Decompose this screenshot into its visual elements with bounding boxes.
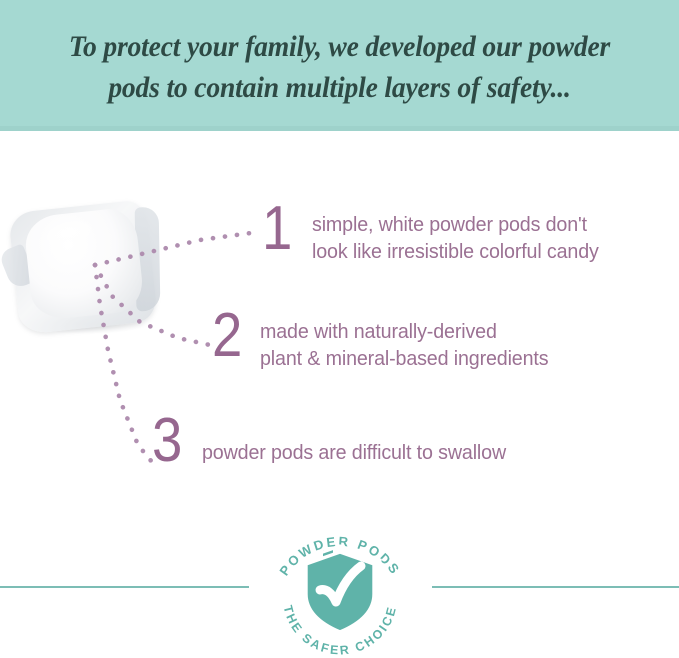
shield-checkmark-icon	[300, 546, 380, 638]
headline-text: To protect your family, we developed our…	[55, 26, 624, 109]
list-item: 2 made with naturally-derived plant & mi…	[212, 311, 561, 373]
item-text: simple, white powder pods don't look lik…	[312, 211, 599, 266]
item-number: 1	[262, 204, 292, 255]
divider-rule-left	[0, 586, 249, 588]
item-text: made with naturally-derived plant & mine…	[260, 318, 548, 373]
powder-pod-image	[8, 196, 168, 356]
list-item: 3 powder pods are difficult to swallow	[152, 416, 519, 467]
item-number: 3	[152, 416, 182, 467]
list-item: 1 simple, white powder pods don't look l…	[262, 204, 611, 266]
header-banner: To protect your family, we developed our…	[0, 0, 679, 131]
item-number: 2	[212, 311, 242, 362]
divider-rule-right	[432, 586, 679, 588]
powder-pods-badge: POWDER PODS THE SAFER CHOICE	[264, 522, 416, 658]
item-text: powder pods are difficult to swallow	[202, 439, 506, 466]
